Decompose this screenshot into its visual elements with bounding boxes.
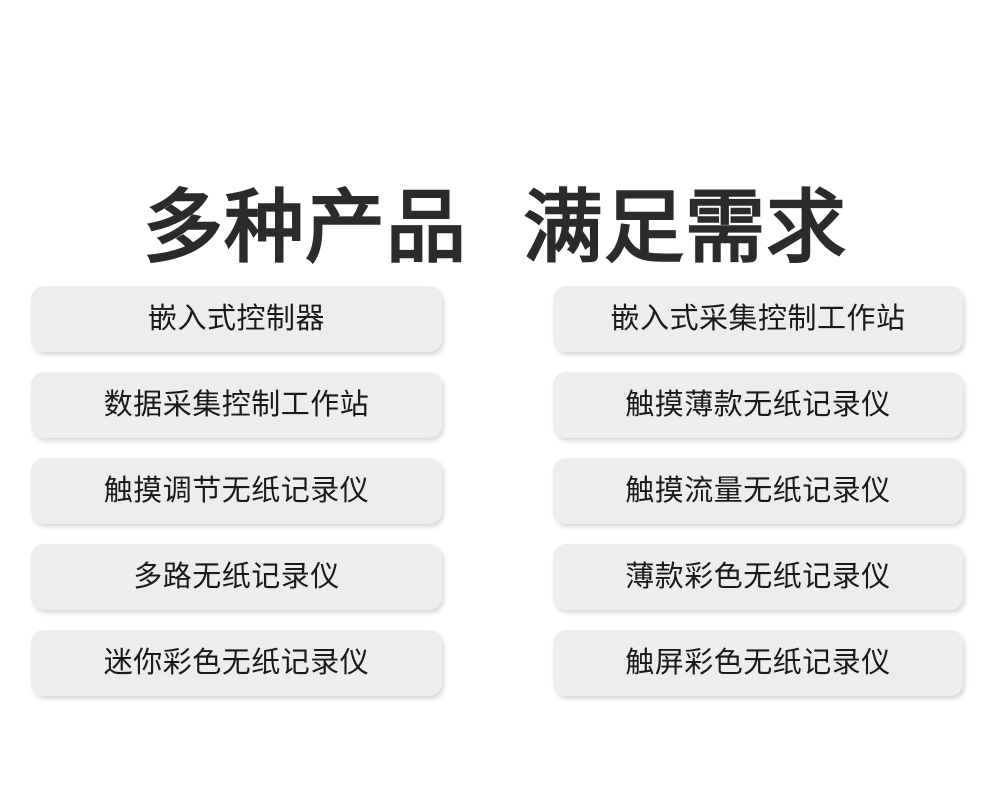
product-label: 触屏彩色无纸记录仪 <box>625 646 891 680</box>
product-item-touchscreen-color-paperless-recorder[interactable]: 触屏彩色无纸记录仪 <box>553 630 963 696</box>
product-label: 薄款彩色无纸记录仪 <box>625 560 891 594</box>
product-column-right: 嵌入式采集控制工作站 触摸薄款无纸记录仪 触摸流量无纸记录仪 薄款彩色无纸记录仪… <box>553 286 963 696</box>
page-title-part-1: 多种产品 <box>143 183 467 272</box>
product-overview-page: 多种产品满足需求 嵌入式控制器 数据采集控制工作站 触摸调节无纸记录仪 多路无纸… <box>0 0 990 793</box>
product-item-touch-flow-paperless-recorder[interactable]: 触摸流量无纸记录仪 <box>553 458 963 524</box>
page-title: 多种产品满足需求 <box>0 180 990 276</box>
product-item-multichannel-paperless-recorder[interactable]: 多路无纸记录仪 <box>31 544 442 610</box>
product-label: 触摸流量无纸记录仪 <box>625 474 891 508</box>
product-label: 多路无纸记录仪 <box>133 560 340 594</box>
product-label: 触摸调节无纸记录仪 <box>104 474 370 508</box>
product-item-daq-control-workstation[interactable]: 数据采集控制工作站 <box>31 372 442 438</box>
product-label: 迷你彩色无纸记录仪 <box>104 646 370 680</box>
page-title-part-2: 满足需求 <box>523 183 847 272</box>
product-columns: 嵌入式控制器 数据采集控制工作站 触摸调节无纸记录仪 多路无纸记录仪 迷你彩色无… <box>0 286 990 696</box>
product-item-slim-color-paperless-recorder[interactable]: 薄款彩色无纸记录仪 <box>553 544 963 610</box>
product-column-left: 嵌入式控制器 数据采集控制工作站 触摸调节无纸记录仪 多路无纸记录仪 迷你彩色无… <box>31 286 442 696</box>
product-item-embedded-daq-control-workstation[interactable]: 嵌入式采集控制工作站 <box>553 286 963 352</box>
product-item-mini-color-paperless-recorder[interactable]: 迷你彩色无纸记录仪 <box>31 630 442 696</box>
product-label: 数据采集控制工作站 <box>104 388 370 422</box>
product-label: 嵌入式采集控制工作站 <box>610 302 905 336</box>
product-label: 触摸薄款无纸记录仪 <box>625 388 891 422</box>
product-item-touch-regulating-paperless-recorder[interactable]: 触摸调节无纸记录仪 <box>31 458 442 524</box>
product-item-embedded-controller[interactable]: 嵌入式控制器 <box>31 286 442 352</box>
product-item-touch-slim-paperless-recorder[interactable]: 触摸薄款无纸记录仪 <box>553 372 963 438</box>
product-label: 嵌入式控制器 <box>148 302 325 336</box>
